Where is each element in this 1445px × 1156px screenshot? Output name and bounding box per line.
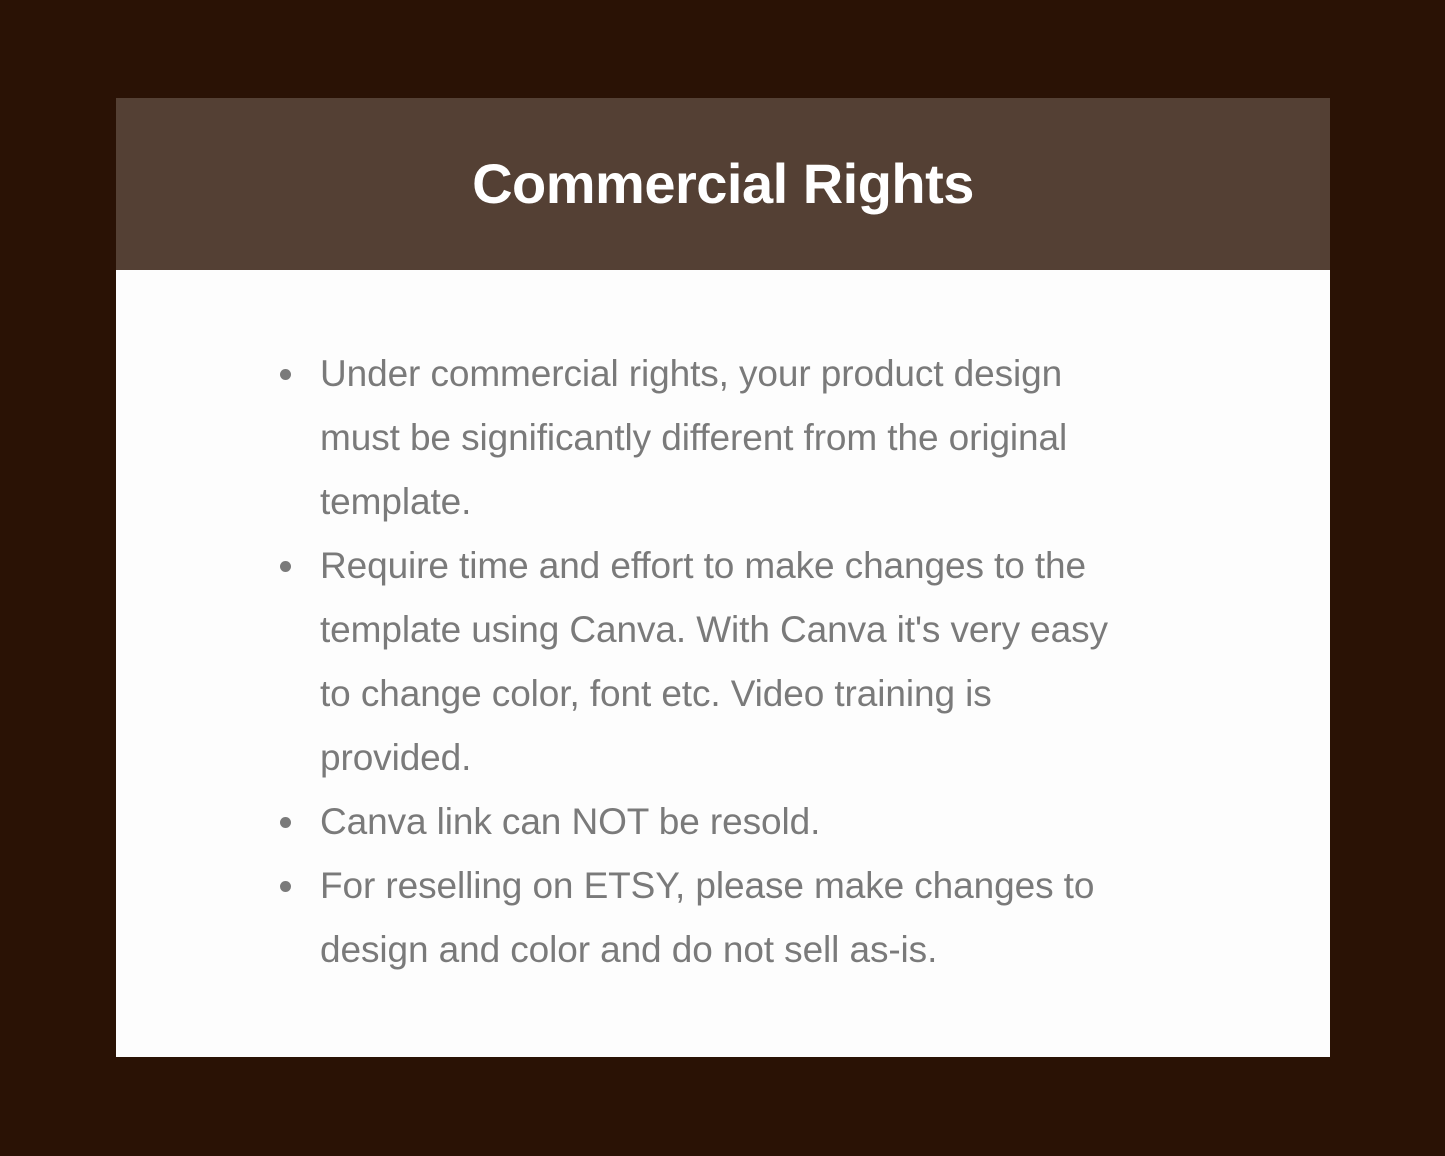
commercial-rights-card: Commercial Rights Under commercial right… [116, 98, 1330, 1057]
list-item: For reselling on ETSY, please make chang… [280, 854, 1140, 982]
card-header: Commercial Rights [116, 98, 1330, 270]
bullet-point-icon [280, 369, 291, 380]
list-item: Under commercial rights, your product de… [280, 342, 1140, 534]
bullet-point-icon [280, 561, 291, 572]
list-item-text: Require time and effort to make changes … [320, 534, 1140, 790]
bullet-point-icon [280, 881, 291, 892]
bullet-point-icon [280, 817, 291, 828]
list-item-text: For reselling on ETSY, please make chang… [320, 854, 1140, 982]
list-item-text: Canva link can NOT be resold. [320, 790, 1140, 854]
page-title: Commercial Rights [442, 156, 1004, 212]
card-body: Under commercial rights, your product de… [116, 270, 1330, 1057]
list-item: Canva link can NOT be resold. [280, 790, 1140, 854]
commercial-rights-bullet-list: Under commercial rights, your product de… [280, 342, 1140, 982]
list-item: Require time and effort to make changes … [280, 534, 1140, 790]
list-item-text: Under commercial rights, your product de… [320, 342, 1140, 534]
slide-canvas: Commercial Rights Under commercial right… [0, 0, 1445, 1156]
